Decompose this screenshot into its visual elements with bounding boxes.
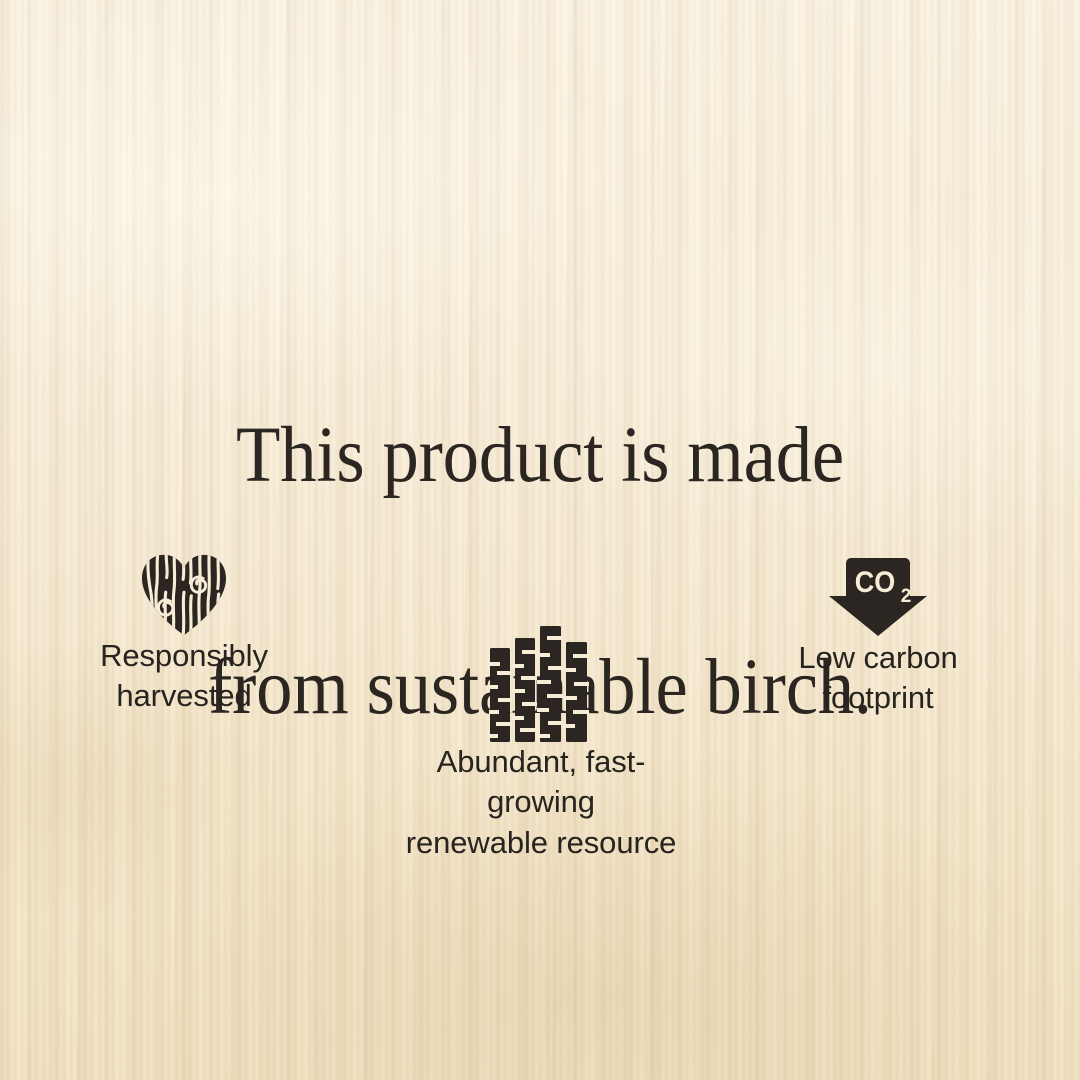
co2-subscript: 2 bbox=[901, 586, 912, 607]
co2-down-arrow-icon: CO 2 bbox=[828, 554, 928, 638]
feature-low-carbon-footprint: CO 2 Low carbon footprint bbox=[728, 554, 1028, 719]
feature-caption: Responsibly harvested bbox=[100, 638, 268, 713]
feature-caption: Abundant, fast-growing renewable resourc… bbox=[406, 744, 676, 860]
feature-responsibly-harvested: Responsibly harvested bbox=[34, 552, 334, 717]
page-title-line-1: This product is made bbox=[43, 417, 1037, 494]
wood-grain-heart-icon bbox=[138, 552, 230, 636]
co2-label: CO bbox=[855, 566, 895, 600]
poster-canvas: This product is made from sustainable bi… bbox=[0, 0, 1080, 1080]
birch-trunks-icon bbox=[489, 626, 593, 742]
feature-caption: Low carbon footprint bbox=[798, 640, 957, 715]
feature-renewable-resource: Abundant, fast-growing renewable resourc… bbox=[391, 626, 691, 863]
